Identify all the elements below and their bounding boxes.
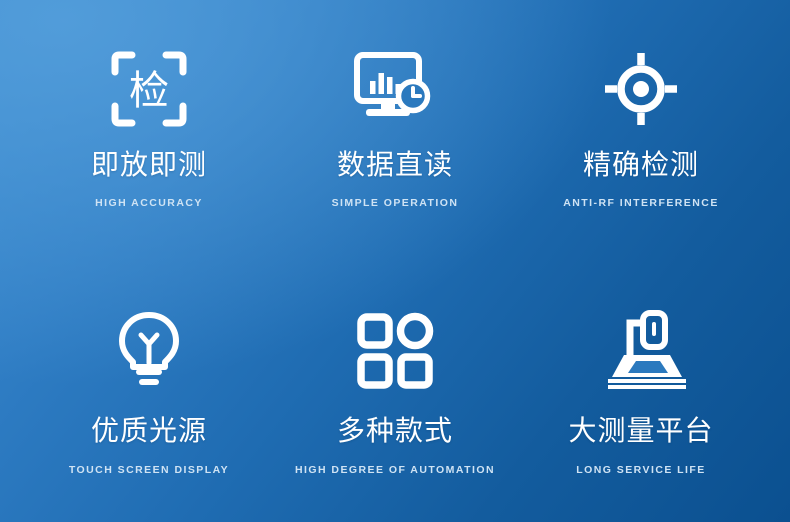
feature-card-4[interactable]: 优质光源 TOUCH SCREEN DISPLAY — [26, 304, 272, 522]
feature-headline: 数据直读 — [337, 152, 453, 180]
feature-subline: TOUCH SCREEN DISPLAY — [69, 464, 229, 476]
feature-card-2[interactable]: 数据直读 SIMPLE OPERATION — [272, 46, 518, 304]
feature-subline: ANTI-RF INTERFERENCE — [563, 197, 719, 209]
feature-card-5[interactable]: 多种款式 HIGH DEGREE OF AUTOMATION — [272, 304, 518, 522]
scan-frame-check-icon: 检 — [104, 46, 194, 132]
feature-headline: 多种款式 — [337, 418, 453, 446]
feature-subline: HIGH DEGREE OF AUTOMATION — [295, 464, 495, 476]
feature-headline: 大测量平台 — [568, 418, 713, 446]
feature-headline: 精确检测 — [583, 152, 699, 180]
feature-card-1[interactable]: 检 即放即测 HIGH ACCURACY — [26, 46, 272, 304]
feature-subline: SIMPLE OPERATION — [332, 197, 459, 209]
feature-banner: 检 即放即测 HIGH ACCURACY — [0, 0, 790, 522]
measuring-stage-icon — [596, 308, 686, 394]
feature-headline: 优质光源 — [91, 418, 207, 446]
feature-card-6[interactable]: 大测量平台 LONG SERVICE LIFE — [518, 304, 764, 522]
grid-squares-circle-icon — [350, 308, 440, 394]
feature-grid: 检 即放即测 HIGH ACCURACY — [0, 0, 790, 522]
feature-card-3[interactable]: 精确检测 ANTI-RF INTERFERENCE — [518, 46, 764, 304]
feature-headline: 即放即测 — [91, 152, 207, 180]
monitor-bar-chart-clock-icon — [350, 46, 440, 132]
feature-subline: LONG SERVICE LIFE — [576, 464, 705, 476]
scan-icon-glyph: 检 — [129, 68, 169, 113]
feature-subline: HIGH ACCURACY — [95, 197, 203, 209]
crosshair-target-icon — [596, 46, 686, 132]
light-bulb-icon — [104, 308, 194, 394]
